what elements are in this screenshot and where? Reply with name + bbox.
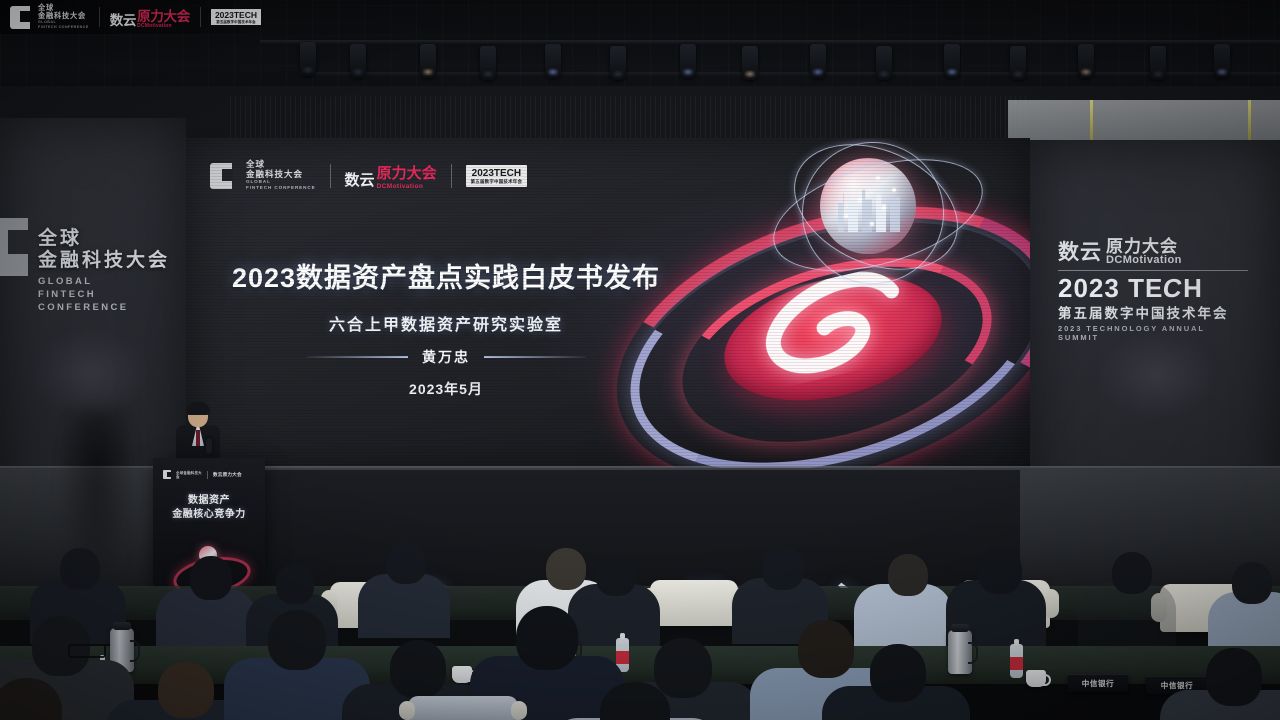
podium-logo-strip: 全球金融科技大会 数云原力大会 [163, 470, 242, 479]
microphone-icon [206, 438, 212, 454]
slide-presenter: 黄万忠 [422, 347, 470, 367]
right-wall-cn-sub: 第五届数字中国技术年会 [1058, 302, 1248, 322]
right-wall-en-sub: 2023 TECHNOLOGY ANNUAL SUMMIT [1058, 324, 1248, 342]
table-placard: 中信银行 [1068, 674, 1128, 692]
person-head [158, 662, 214, 718]
stage-light [680, 44, 696, 78]
lighting-truss-bar [260, 40, 1280, 44]
person-head [870, 644, 926, 702]
fintech-cube-icon [163, 470, 171, 479]
cup-handle [1043, 674, 1051, 686]
podium-title: 数据资产 金融核心竞争力 [153, 494, 265, 522]
right-wall-tech-lockup: 2023 TECH [1058, 274, 1248, 302]
podium-logo-cn: 全球金融科技大会 [176, 471, 202, 479]
person-head [546, 548, 586, 590]
fintech-cube-icon [210, 163, 232, 189]
podium-title-line1: 数据资产 [153, 494, 265, 508]
bug-dcmotivation: 数云 原力大会 DCMotivation [110, 5, 190, 29]
wall-light-bloom [1098, 330, 1218, 420]
slide-3d-graphic [630, 148, 1030, 448]
right-wall-tech-post: H [1183, 273, 1203, 303]
slide-logo-tech-badge: 2023TECH 第五届数字中国技术年会 [466, 165, 528, 187]
slide-text-block: 2023数据资产盘点实践白皮书发布 六合上甲数据资产研究实验室 黄万忠 2023… [226, 256, 666, 399]
right-wall-tech-pre: 2023 TE [1058, 273, 1163, 303]
stage-light [810, 44, 826, 78]
person-head [798, 620, 854, 678]
bug-fintech-text: 全球 金融科技大会 GLOBAL FINTECH CONFERENCE [38, 4, 89, 31]
person-head [276, 564, 314, 604]
stage-light [944, 44, 960, 78]
slide-logo-dcm-sub: DCMotivation [377, 183, 437, 190]
person-head [386, 542, 426, 584]
slide-logo-cn2: 金融科技大会 [246, 170, 316, 180]
stage-light [1078, 44, 1094, 78]
slide-header-logos: 全球 金融科技大会 GLOBAL FINTECH CONFERENCE 数云 原… [210, 160, 527, 191]
slide-logo-tech-bottom: 第五届数字中国技术年会 [471, 179, 523, 185]
person-head [1232, 562, 1272, 604]
stage-light [876, 46, 892, 80]
stage-light [300, 42, 316, 76]
thermos [948, 630, 972, 674]
rule-right [484, 356, 586, 358]
divider [200, 7, 201, 27]
slide-logo-yuanli: 原力大会 [377, 162, 437, 183]
slide-logo-fintech-text: 全球 金融科技大会 GLOBAL FINTECH CONFERENCE [246, 160, 316, 191]
stage-light [350, 44, 366, 78]
person-head [1112, 552, 1152, 594]
speaker-tie [196, 430, 200, 446]
slide-logo-en2: FINTECH CONFERENCE [246, 185, 316, 191]
audience-area: 中国进出口银行 中信银行 中信银行 [0, 520, 1280, 720]
fintech-cube-icon [0, 218, 28, 276]
person-head [268, 610, 326, 670]
slide-presenter-row: 黄万忠 [226, 347, 666, 367]
person-head [596, 554, 636, 596]
person-head [1206, 648, 1262, 706]
speaker-hair [186, 402, 210, 415]
divider [451, 164, 452, 188]
wall-light-bloom [30, 328, 150, 418]
stage-light [610, 46, 626, 80]
person-head [390, 640, 446, 698]
audience-chair [650, 580, 738, 626]
fintech-cube-icon [10, 6, 30, 29]
lighting-truss-bar-2 [300, 72, 1280, 76]
person-head [190, 556, 232, 600]
water-bottle [1010, 644, 1023, 678]
bug-tech-bottom: 第五届数字中国技术年会 [216, 20, 256, 25]
divider [330, 164, 331, 188]
rule-left [306, 356, 408, 358]
divider [1058, 270, 1248, 271]
slide-date: 2023年5月 [226, 379, 666, 399]
slide-title: 2023数据资产盘点实践白皮书发布 [226, 256, 666, 295]
person-head [978, 548, 1022, 594]
slide-logo-tech-top: 2023TECH [472, 168, 521, 179]
left-wall-cn-line2: 金融科技大会 [38, 250, 186, 272]
left-wall-en-line2: FINTECH CONFERENCE [38, 288, 186, 314]
bug-yuanli: 原力大会 [137, 5, 190, 25]
bug-shuyun: 数云 [110, 9, 136, 29]
right-wall-brand-cn: 数云 [1058, 236, 1102, 266]
broadcast-frame: 全球 金融科技大会 GLOBAL FINTECH CONFERENCE 数云 原… [0, 0, 1280, 720]
bug-tech-badge: 2023TECH 第五届数字中国技术年会 [211, 9, 261, 26]
left-wall-en-line1: GLOBAL [38, 275, 186, 288]
slide-logo-shuyun: 数云 [345, 169, 375, 190]
swirl-c-icon: C [1161, 274, 1185, 302]
stage-light [1010, 46, 1026, 80]
left-wall-cn-line1: 全球 [38, 228, 186, 250]
person-head [762, 546, 804, 590]
audience-chair-foreground [408, 696, 518, 720]
podium-logo-cn2: 数云原力大会 [213, 472, 242, 478]
divider [99, 7, 100, 27]
thermos-lid [951, 624, 969, 632]
person-head [654, 638, 712, 698]
stage-light [420, 44, 436, 78]
bug-en-line2: FINTECH CONFERENCE [38, 25, 89, 30]
stage-light [545, 44, 561, 78]
glasses-icon [68, 644, 106, 658]
stage-light [1150, 46, 1166, 80]
stage-light [742, 46, 758, 80]
right-wall-branding: 数云 原力大会 DCMotivation 2023 TECH 第五届数字中国技术… [1058, 232, 1248, 342]
broadcast-logo-bug: 全球 金融科技大会 GLOBAL FINTECH CONFERENCE 数云 原… [0, 0, 272, 34]
divider [207, 471, 208, 479]
slide-subtitle: 六合上甲数据资产研究实验室 [226, 311, 666, 335]
main-led-screen: 全球 金融科技大会 GLOBAL FINTECH CONFERENCE 数云 原… [186, 138, 1030, 468]
person-head [888, 554, 928, 596]
left-wall-branding: 全球 金融科技大会 GLOBAL FINTECH CONFERENCE [38, 228, 186, 314]
bug-cn-line2: 金融科技大会 [38, 12, 89, 20]
tea-cup [1026, 670, 1046, 687]
person-head [516, 606, 578, 670]
person-head [60, 548, 100, 590]
bug-tech-top: 2023TECH [215, 11, 257, 20]
right-wall-brand-en: DCMotivation [1106, 254, 1182, 266]
thermos-lid [113, 622, 131, 630]
slide-logo-dcmotivation: 数云 原力大会 DCMotivation [345, 162, 437, 190]
placard-label: 中信银行 [1082, 678, 1114, 689]
tea-cup [452, 666, 472, 683]
stage-light [480, 46, 496, 80]
bug-dcm-sub: DCMotivation [137, 23, 190, 29]
stage-light [1214, 44, 1230, 78]
